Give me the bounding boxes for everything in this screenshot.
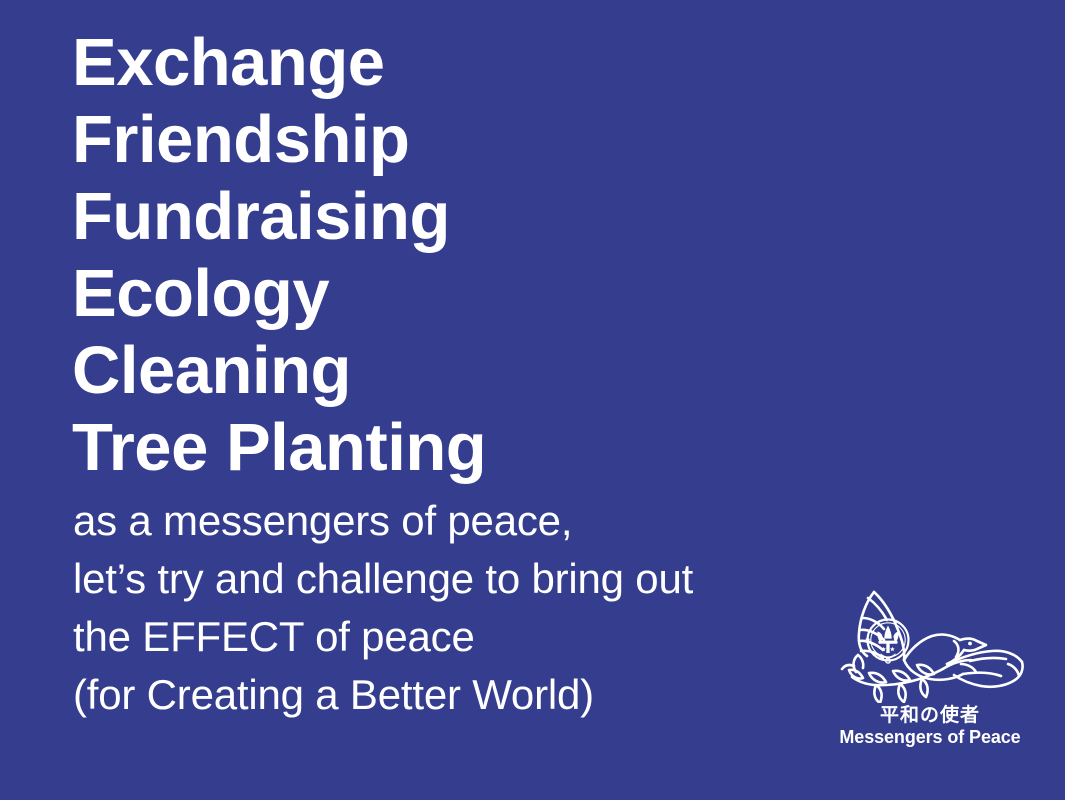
heading-item-exchange: Exchange [72,24,852,101]
slide-canvas: Exchange Friendship Fundraising Ecology … [0,0,1065,800]
body-line-1: as a messengers of peace, [73,492,863,550]
body-line-4: (for Creating a Better World) [73,666,863,724]
body-line-3: the EFFECT of peace [73,608,863,666]
logo-caption-english: Messengers of Peace [830,727,1030,748]
heading-item-fundraising: Fundraising [72,178,852,255]
heading-item-ecology: Ecology [72,255,852,332]
dove-with-olive-branch-icon [830,578,1030,703]
heading-item-cleaning: Cleaning [72,332,852,409]
heading-item-tree-planting: Tree Planting [72,409,852,486]
heading-item-friendship: Friendship [72,101,852,178]
activity-heading-list: Exchange Friendship Fundraising Ecology … [72,24,852,486]
logo-caption-japanese: 平和の使者 [830,705,1030,727]
messengers-of-peace-logo: 平和の使者 Messengers of Peace [830,578,1030,758]
body-copy-block: as a messengers of peace, let’s try and … [73,492,863,724]
body-line-2: let’s try and challenge to bring out [73,550,863,608]
